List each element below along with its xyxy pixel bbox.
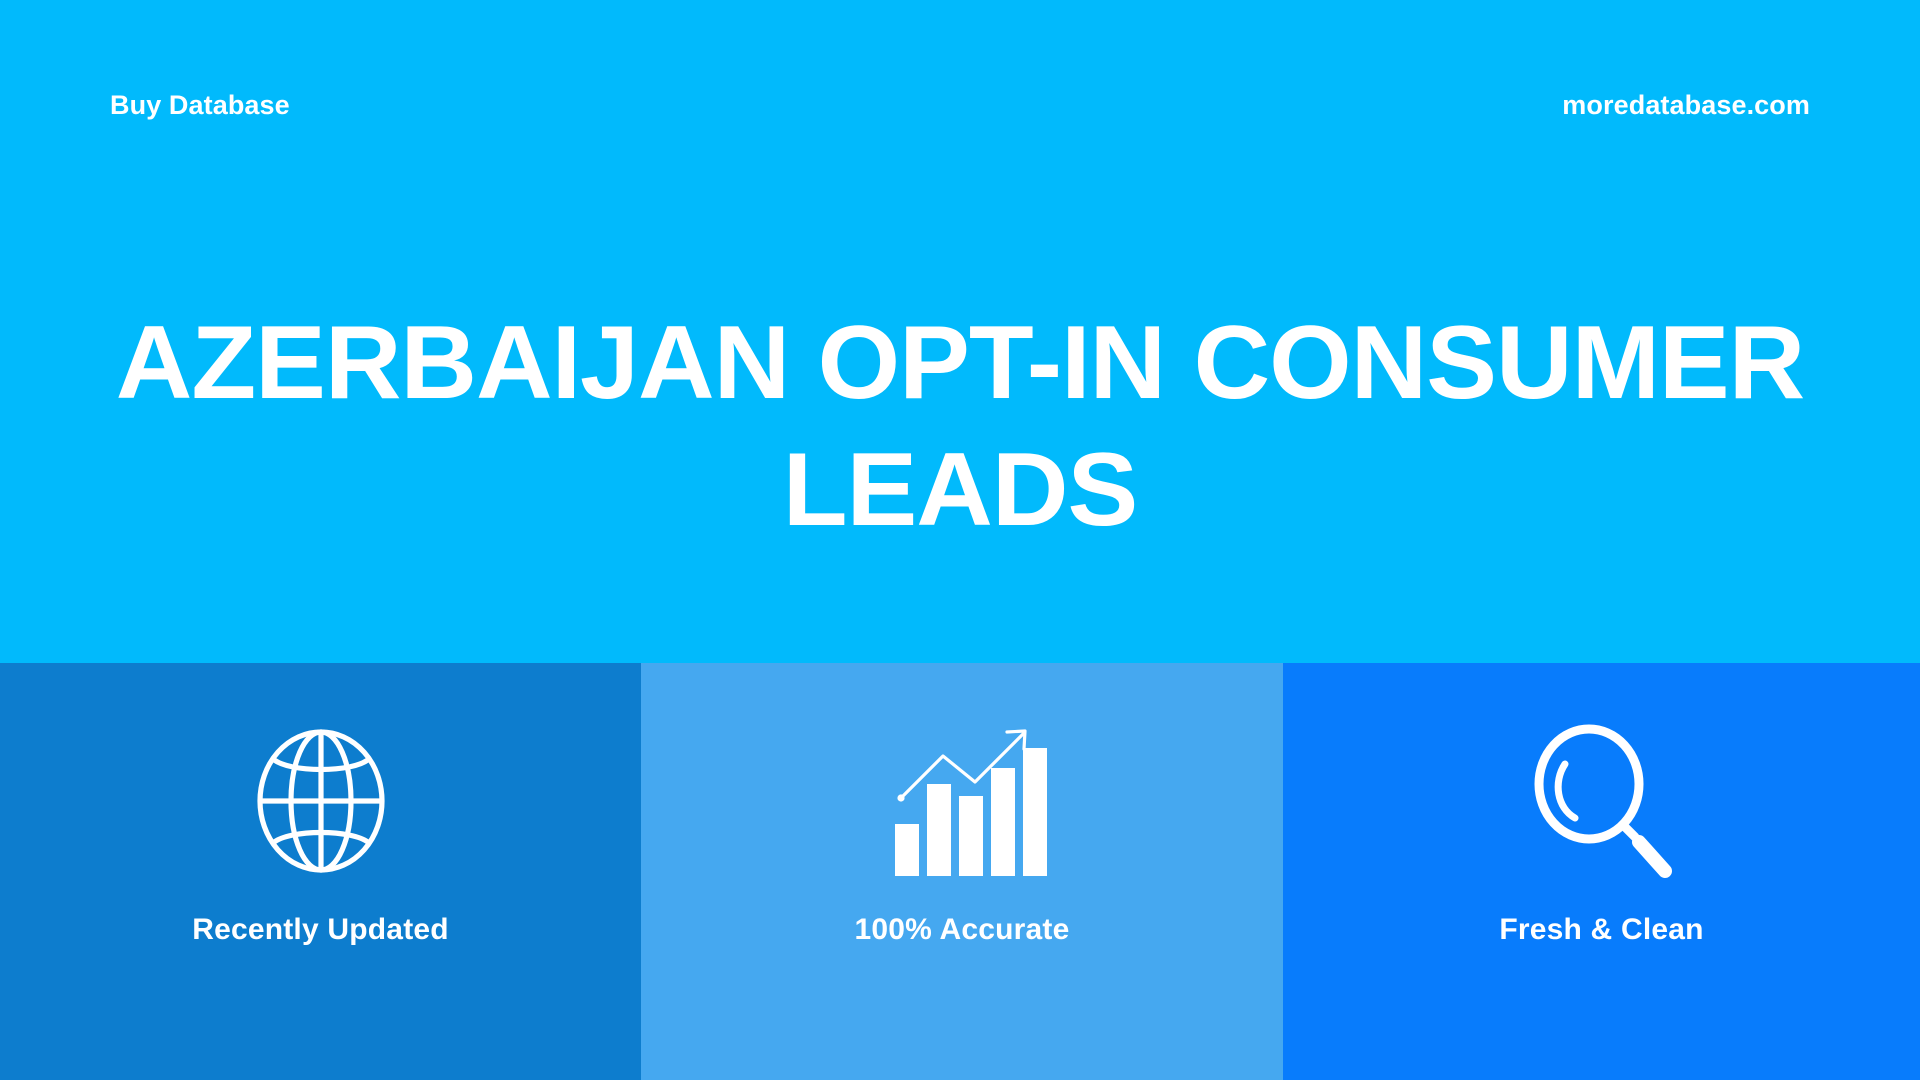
hero-section: Buy Database moredatabase.com AZERBAIJAN… <box>0 0 1920 663</box>
bar-chart-growth-icon <box>882 721 1042 881</box>
feature-label-recently-updated: Recently Updated <box>192 913 449 947</box>
feature-label-fresh-clean: Fresh & Clean <box>1499 913 1703 947</box>
feature-panel-100-accurate: 100% Accurate <box>641 663 1283 1080</box>
page-title: AZERBAIJAN OPT-IN CONSUMER LEADS <box>0 300 1920 554</box>
hero-title-line-2: LEADS <box>30 427 1890 554</box>
promo-banner-page: Buy Database moredatabase.com AZERBAIJAN… <box>0 0 1920 1080</box>
feature-panels: Recently Updated <box>0 663 1920 1080</box>
header-bar: Buy Database moredatabase.com <box>0 0 1920 210</box>
magnifier-icon <box>1522 721 1682 881</box>
hero-title-line-1: AZERBAIJAN OPT-IN CONSUMER <box>30 300 1890 427</box>
feature-panel-fresh-clean: Fresh & Clean <box>1283 663 1920 1080</box>
brand-label-left: Buy Database <box>110 90 290 121</box>
website-url-label: moredatabase.com <box>1562 90 1810 121</box>
feature-panel-recently-updated: Recently Updated <box>0 663 641 1080</box>
globe-icon <box>241 721 401 881</box>
feature-label-100-accurate: 100% Accurate <box>855 913 1070 947</box>
